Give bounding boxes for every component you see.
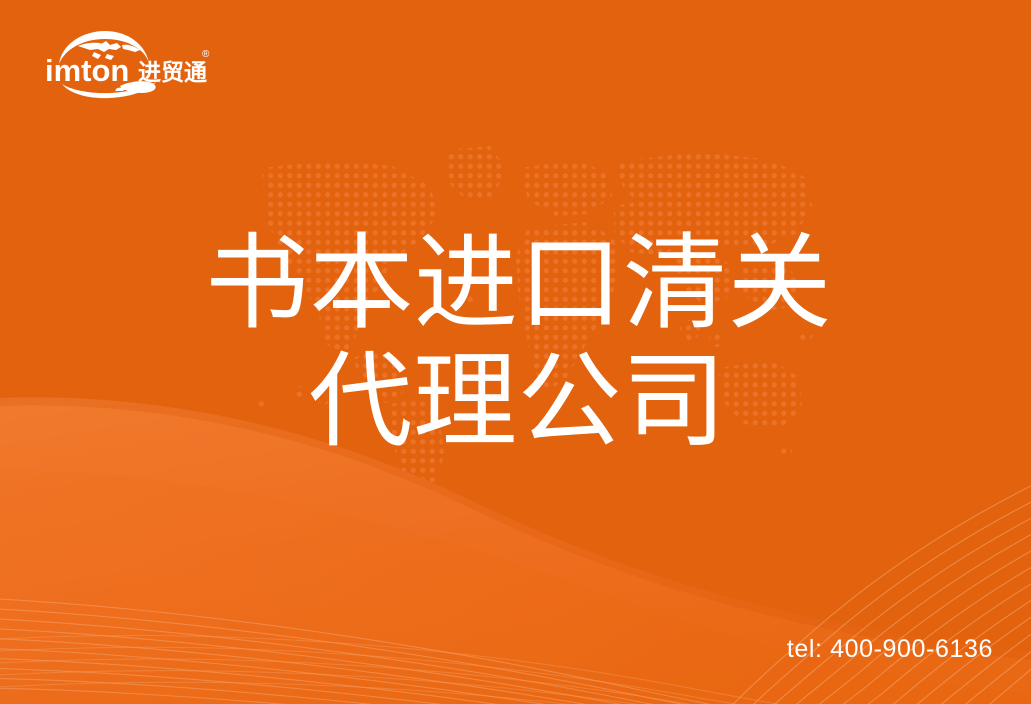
headline-line-1: 书本进口清关 (6, 228, 1031, 340)
logo-trademark: ® (202, 49, 210, 60)
headline: 书本进口清关 代理公司 (0, 228, 1031, 459)
logo-chinese-text: 进贸通 (138, 60, 207, 86)
headline-line-2: 代理公司 (4, 346, 1031, 458)
logo-latin-text: imton (45, 53, 129, 88)
brand-logo[interactable]: imton 进贸通 ® (42, 28, 210, 102)
telephone-text: tel: 400-900-6136 (787, 635, 993, 664)
promo-banner: imton 进贸通 ® imton 进贸通 ® 书本进口清关 代理公司 tel:… (0, 0, 1031, 704)
